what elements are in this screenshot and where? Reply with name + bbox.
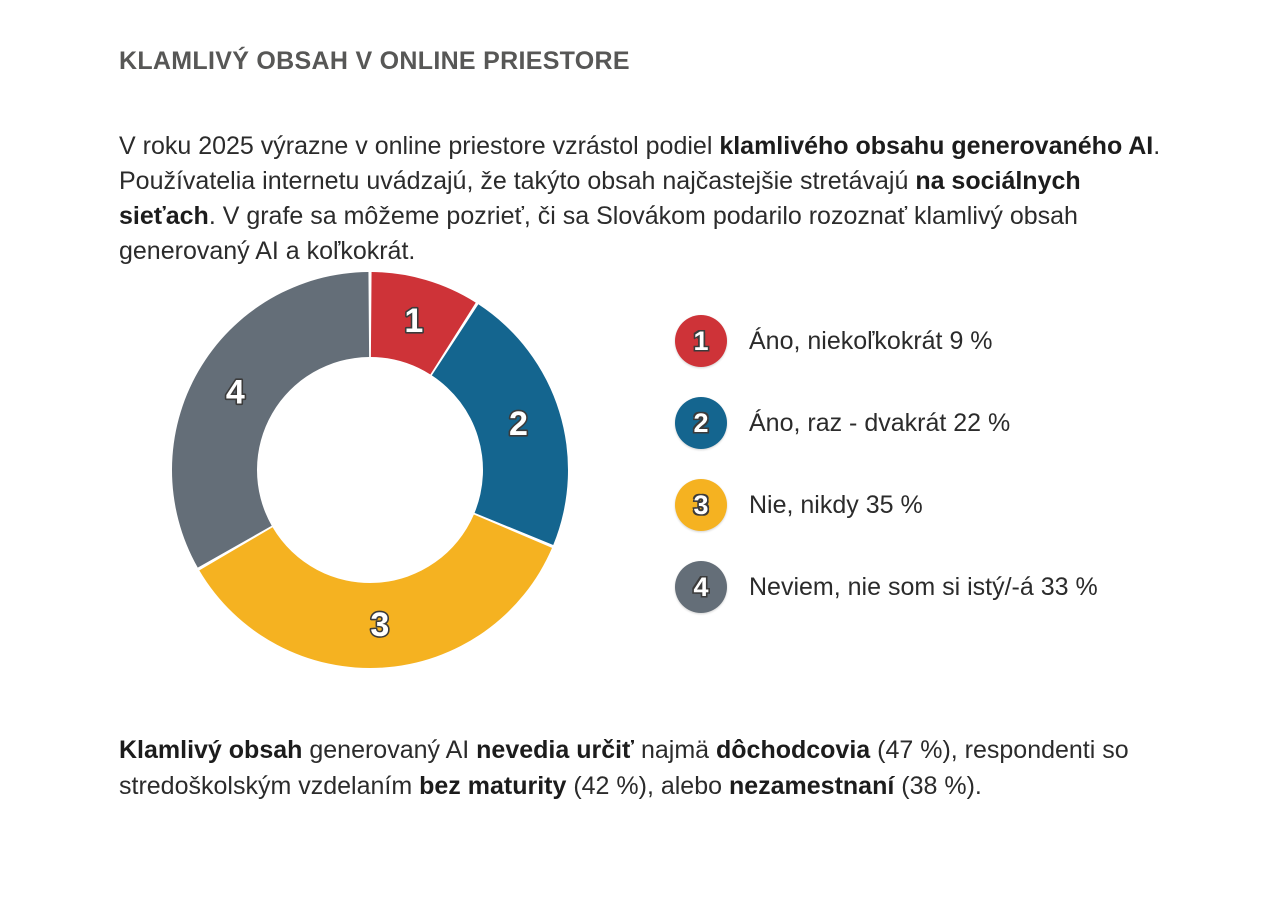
legend-badge-number: 4 xyxy=(693,574,708,601)
legend-item-4[interactable]: 4 Neviem, nie som si istý/-á 33 % xyxy=(675,546,1215,628)
legend-badge-number: 3 xyxy=(693,492,708,519)
legend-badge-3: 3 xyxy=(675,479,727,531)
legend-badge-number: 1 xyxy=(693,328,708,355)
legend-label-4: Neviem, nie som si istý/-á 33 % xyxy=(749,573,1098,602)
donut-slice-3[interactable] xyxy=(199,514,552,668)
legend-badge-2: 2 xyxy=(675,397,727,449)
legend-badge-1: 1 xyxy=(675,315,727,367)
donut-slice-label-3: 3 xyxy=(370,606,389,644)
donut-slice-label-4: 4 xyxy=(226,373,245,411)
chart-legend: 1 Áno, niekoľkokrát 9 % 2 Áno, raz - dva… xyxy=(675,300,1215,628)
outro-paragraph: Klamlivý obsah generovaný AI nevedia urč… xyxy=(119,732,1189,804)
donut-slice-4[interactable] xyxy=(172,272,369,568)
legend-label-2: Áno, raz - dvakrát 22 % xyxy=(749,409,1010,438)
legend-badge-number: 2 xyxy=(693,410,708,437)
donut-slice-2[interactable] xyxy=(432,304,568,545)
legend-item-3[interactable]: 3 Nie, nikdy 35 % xyxy=(675,464,1215,546)
intro-paragraph: V roku 2025 výrazne v online priestore v… xyxy=(119,129,1174,269)
donut-chart-svg: 1234 xyxy=(150,258,590,682)
legend-item-1[interactable]: 1 Áno, niekoľkokrát 9 % xyxy=(675,300,1215,382)
legend-badge-4: 4 xyxy=(675,561,727,613)
donut-slice-label-1: 1 xyxy=(404,302,423,340)
legend-label-3: Nie, nikdy 35 % xyxy=(749,491,923,520)
infographic-page: KLAMLIVÝ OBSAH V ONLINE PRIESTORE V roku… xyxy=(0,0,1276,911)
legend-label-1: Áno, niekoľkokrát 9 % xyxy=(749,327,993,356)
donut-chart: 1234 xyxy=(150,258,590,688)
page-title: KLAMLIVÝ OBSAH V ONLINE PRIESTORE xyxy=(119,47,630,76)
legend-item-2[interactable]: 2 Áno, raz - dvakrát 22 % xyxy=(675,382,1215,464)
donut-slice-label-2: 2 xyxy=(509,405,528,443)
